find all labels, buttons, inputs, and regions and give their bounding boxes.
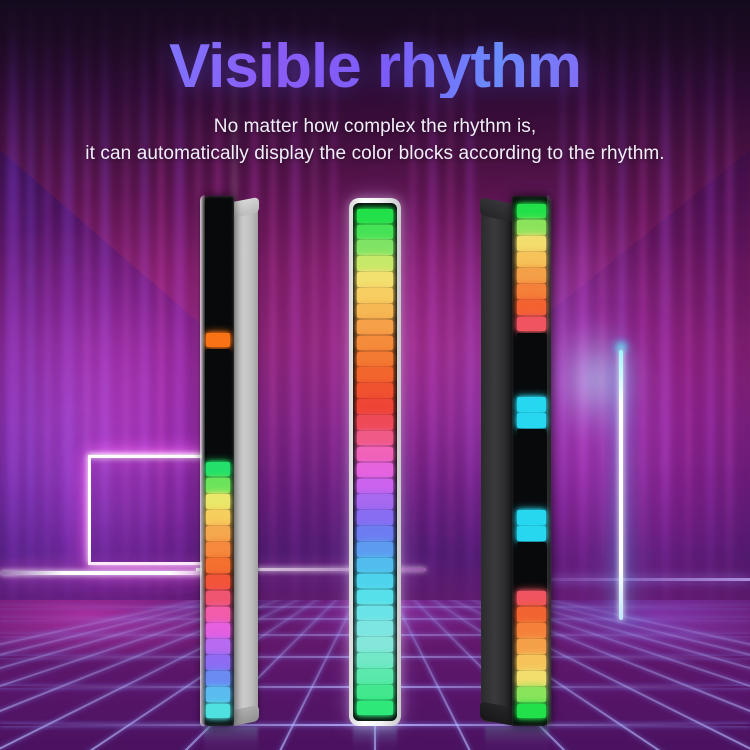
led-segment	[357, 479, 393, 494]
product-marketing-image: Visible rhythm No matter how complex the…	[0, 0, 750, 750]
led-segment	[206, 526, 230, 541]
left-neon-frame	[88, 455, 206, 565]
led-segment	[206, 236, 230, 251]
led-segment	[357, 209, 393, 224]
led-segment	[517, 655, 546, 670]
led-segment	[206, 252, 230, 267]
led-segment	[357, 256, 393, 271]
led-segment	[517, 446, 546, 461]
led-segment	[357, 399, 393, 414]
led-segment	[517, 671, 546, 686]
led-segment	[517, 462, 546, 477]
led-segment	[206, 268, 230, 283]
led-segment	[357, 431, 393, 446]
led-segment	[517, 429, 546, 444]
led-segment	[357, 304, 393, 319]
device-led-rhythm-light-white[interactable]	[349, 198, 401, 726]
led-segment	[206, 220, 230, 235]
led-segment	[517, 623, 546, 638]
led-segment	[357, 653, 393, 668]
led-segment	[517, 349, 546, 364]
left-neon-frame-top	[88, 455, 206, 458]
led-segment	[206, 413, 230, 428]
led-segment	[357, 447, 393, 462]
led-segment	[357, 272, 393, 287]
led-segment	[357, 463, 393, 478]
led-segment	[517, 268, 546, 283]
led-segment	[357, 352, 393, 367]
led-segment	[517, 300, 546, 315]
led-segment	[206, 365, 230, 380]
led-segment	[357, 669, 393, 684]
led-segment	[517, 284, 546, 299]
led-segment	[517, 607, 546, 622]
led-segment	[206, 494, 230, 509]
led-segment	[517, 575, 546, 590]
led-segment	[517, 333, 546, 348]
led-display-panel-white[interactable]	[353, 203, 397, 721]
right-vertical-neon-tube	[619, 350, 623, 620]
led-segment	[517, 252, 546, 267]
led-segment	[357, 685, 393, 700]
led-segment	[517, 204, 546, 219]
device-led-rhythm-light-black[interactable]	[479, 196, 553, 726]
led-segment	[517, 591, 546, 606]
led-segment	[517, 478, 546, 493]
led-segment	[517, 494, 546, 509]
led-segment	[357, 526, 393, 541]
led-segment	[517, 542, 546, 557]
led-segment	[517, 413, 546, 428]
led-segment	[517, 639, 546, 654]
led-segment	[206, 429, 230, 444]
led-segment	[206, 462, 230, 477]
led-segment	[206, 204, 230, 219]
led-segment	[517, 365, 546, 380]
led-segment	[517, 236, 546, 251]
device-led-rhythm-light-silver[interactable]	[199, 196, 261, 726]
led-display-panel-silver[interactable]	[202, 196, 234, 726]
led-segment	[206, 671, 230, 686]
led-segment	[357, 383, 393, 398]
led-segment	[206, 333, 230, 348]
led-segment	[357, 288, 393, 303]
led-segment	[357, 606, 393, 621]
led-segment	[357, 415, 393, 430]
led-segment	[206, 687, 230, 702]
led-segment	[357, 542, 393, 557]
horizontal-neon-band-left	[0, 571, 212, 575]
device-body-side-black	[481, 208, 515, 722]
led-segment	[206, 558, 230, 573]
subtitle-line-2: it can automatically display the color b…	[0, 143, 750, 165]
led-segment	[206, 704, 230, 719]
led-segment	[517, 397, 546, 412]
led-segment	[357, 240, 393, 255]
device-edge-highlight-silver	[200, 195, 205, 727]
led-segment	[206, 381, 230, 396]
led-segment	[357, 590, 393, 605]
led-segment	[206, 317, 230, 332]
led-segment	[206, 349, 230, 364]
subtitle-line-1: No matter how complex the rhythm is,	[0, 116, 750, 138]
led-segment	[206, 510, 230, 525]
led-segment	[517, 526, 546, 541]
page-title: Visible rhythm	[0, 36, 750, 98]
led-segment	[206, 639, 230, 654]
led-segment	[206, 397, 230, 412]
led-segment	[206, 591, 230, 606]
led-segment	[357, 637, 393, 652]
led-segment	[517, 381, 546, 396]
led-segment	[517, 510, 546, 525]
led-segment	[357, 225, 393, 240]
led-segment	[517, 317, 546, 332]
led-segment	[206, 575, 230, 590]
led-segment	[206, 623, 230, 638]
led-segment	[206, 655, 230, 670]
led-segment	[357, 701, 393, 716]
led-segment	[517, 687, 546, 702]
led-segment	[206, 300, 230, 315]
led-segment	[357, 494, 393, 509]
led-segment	[357, 558, 393, 573]
led-display-panel-black[interactable]	[512, 196, 551, 726]
led-segment	[357, 621, 393, 636]
led-segment	[517, 704, 546, 719]
led-segment	[206, 478, 230, 493]
led-segment	[517, 558, 546, 573]
led-segment	[357, 336, 393, 351]
led-segment	[206, 542, 230, 557]
led-segment	[357, 574, 393, 589]
device-edge-highlight-black	[547, 195, 552, 727]
led-segment	[357, 510, 393, 525]
led-segment	[357, 320, 393, 335]
led-segment	[517, 220, 546, 235]
led-segment	[206, 607, 230, 622]
led-segment	[357, 367, 393, 382]
led-segment	[206, 446, 230, 461]
led-segment	[206, 284, 230, 299]
horizontal-neon-band-right	[550, 578, 750, 581]
